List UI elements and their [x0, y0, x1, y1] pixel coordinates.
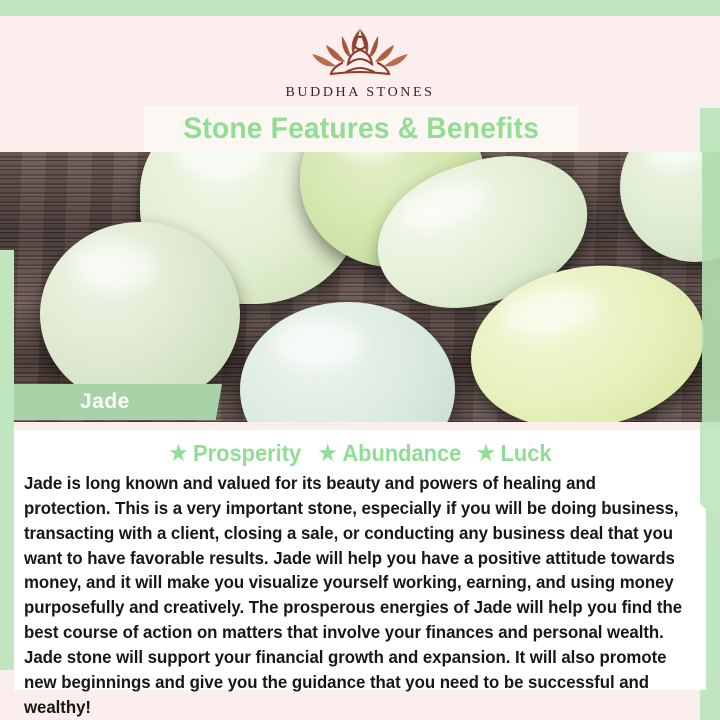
star-icon: ★: [477, 443, 495, 464]
keyword-row: ★ Prosperity ★ Abundance ★ Luck: [24, 438, 696, 468]
decor-strip-right: [702, 152, 720, 422]
brand-name: BUDDHA STONES: [285, 85, 434, 101]
keyword-label: Abundance: [342, 440, 461, 467]
description-text: Jade is long known and valued for its be…: [24, 472, 686, 720]
title-banner: Stone Features & Benefits: [144, 106, 578, 152]
hero-photo: [0, 152, 720, 422]
brand-header: BUDDHA STONES: [0, 16, 720, 108]
keyword-luck: ★ Luck: [477, 440, 552, 467]
content-panel: ★ Prosperity ★ Abundance ★ Luck Jade is …: [14, 430, 706, 690]
photo-caption-band: Jade: [14, 384, 222, 420]
decor-band-left: [0, 250, 14, 670]
lotus-meditation-icon: [296, 23, 424, 83]
photo-caption-label: Jade: [80, 390, 130, 414]
page-title: Stone Features & Benefits: [183, 112, 539, 146]
jade-stone: [40, 222, 240, 407]
decor-band-top: [0, 0, 720, 16]
star-icon: ★: [319, 443, 337, 464]
keyword-label: Prosperity: [193, 440, 301, 467]
keyword-prosperity: ★ Prosperity: [170, 440, 302, 467]
keyword-label: Luck: [501, 440, 552, 467]
star-icon: ★: [170, 443, 188, 464]
keyword-abundance: ★ Abundance: [319, 440, 462, 467]
